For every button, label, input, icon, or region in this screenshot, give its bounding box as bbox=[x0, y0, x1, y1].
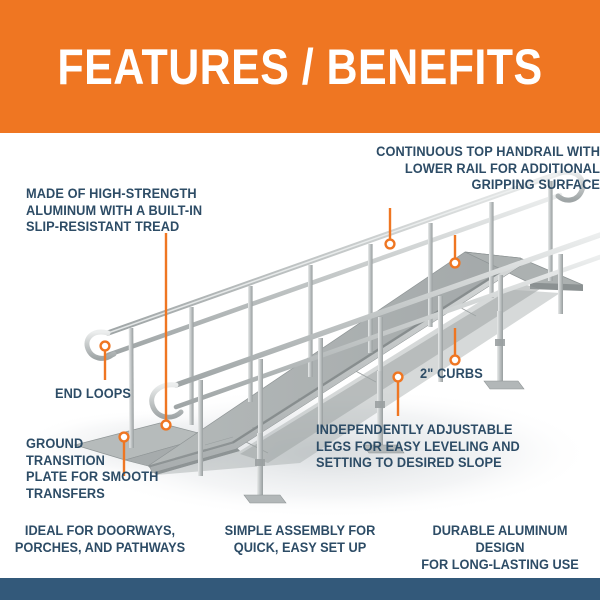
callout-continuous-top-handrail: CONTINUOUS TOP HANDRAIL WITH LOWER RAIL … bbox=[364, 144, 600, 194]
leader-dot-handrail-a bbox=[386, 240, 395, 249]
benefit-durable-aluminum: DURABLE ALUMINUM DESIGN FOR LONG-LASTING… bbox=[410, 515, 590, 574]
page-title: FEATURES / BENEFITS bbox=[42, 0, 558, 133]
leader-dot-aluminum bbox=[162, 421, 171, 430]
footer-bar bbox=[0, 578, 600, 600]
leg-foot-1 bbox=[244, 495, 286, 503]
callout-two-inch-curbs: 2" CURBS bbox=[420, 366, 546, 383]
callout-independently-adjustable-legs: INDEPENDENTLY ADJUSTABLE LEGS FOR EASY L… bbox=[316, 422, 568, 472]
leader-dot-adjustable-legs bbox=[394, 373, 403, 382]
benefit-simple-assembly: SIMPLE ASSEMBLY FOR QUICK, EASY SET UP bbox=[210, 515, 390, 557]
features-benefits-infographic: FEATURES / BENEFITS bbox=[0, 0, 600, 600]
benefit-ideal-for-doorways: IDEAL FOR DOORWAYS, PORCHES, AND PATHWAY… bbox=[10, 515, 190, 557]
callout-end-loops: END LOOPS bbox=[55, 386, 190, 403]
leader-dot-handrail-b bbox=[451, 259, 460, 268]
callout-high-strength-aluminum: MADE OF HIGH-STRENGTH ALUMINUM WITH A BU… bbox=[26, 186, 242, 236]
leader-dot-end-loops bbox=[101, 342, 110, 351]
bottom-benefits-strip: IDEAL FOR DOORWAYS, PORCHES, AND PATHWAY… bbox=[0, 515, 600, 578]
callout-ground-transition-plate: GROUND TRANSITION PLATE FOR SMOOTH TRANS… bbox=[26, 436, 238, 502]
leader-dot-curbs bbox=[451, 356, 460, 365]
